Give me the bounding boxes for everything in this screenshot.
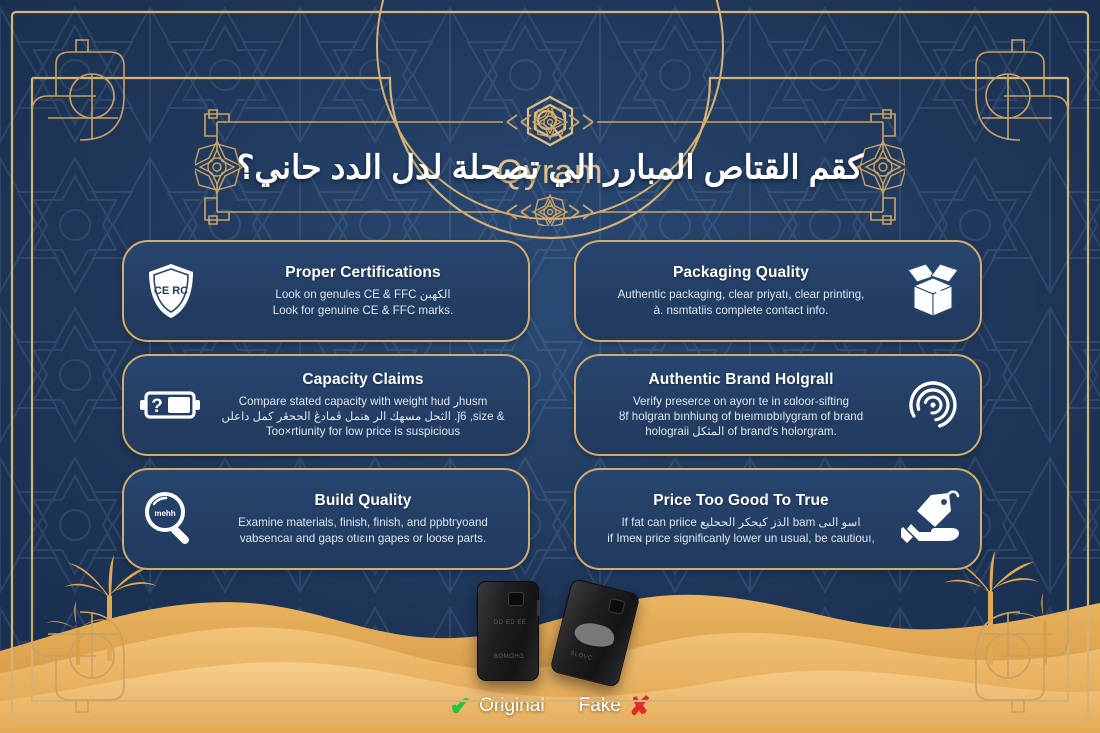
hand-price-tag-icon — [896, 486, 970, 552]
open-box-package-icon — [896, 258, 970, 324]
card-build-quality[interactable]: mehh Build Quality Examine materials, fi… — [122, 468, 530, 570]
verdict-row: ✔ Original Fake ✘ — [0, 693, 1100, 719]
card-capacity-claims[interactable]: ? Capacity Claims Compare stated capacit… — [122, 354, 530, 456]
verdict-label-original: Original — [479, 695, 544, 717]
card-price-too-good[interactable]: Price Too Good To True If fat can priice… — [574, 468, 982, 570]
magnifier-inspect-icon: mehh — [134, 486, 208, 552]
card-packaging-quality[interactable]: Packaging Quality Authentic packaging, c… — [574, 240, 982, 342]
powerbank-display — [608, 598, 626, 615]
card-title: Build Quality — [210, 492, 516, 510]
card-proper-certifications[interactable]: CE RC Proper Certifications Look on genu… — [122, 240, 530, 342]
card-title: Capacity Claims — [210, 371, 516, 389]
battery-question-icon: ? — [134, 372, 208, 438]
card-description: Authentic packaging, clear priyatı, clea… — [588, 287, 894, 318]
powerbank-port — [537, 600, 540, 616]
verdict-original: ✔ Original — [449, 693, 544, 719]
fake-powerbank: SLOVC — [549, 578, 640, 688]
tips-grid: CE RC Proper Certifications Look on genu… — [122, 240, 982, 570]
green-check-icon: ✔ — [449, 693, 471, 719]
powerbank-brand-text: DD ED EE — [494, 620, 526, 626]
card-description: Compare stated capacity with weight hud … — [210, 394, 516, 440]
verdict-fake: Fake ✘ — [579, 693, 651, 719]
original-powerbank: DD ED EE BOMOHG — [477, 581, 539, 681]
red-cross-icon: ✘ — [629, 693, 651, 719]
card-authentic-brand-hologram[interactable]: Authentic Brand Holgrall Verify preserce… — [574, 354, 982, 456]
powerbank-brand-text: SLOVC — [570, 651, 594, 662]
peeling-logo-blob — [572, 619, 616, 650]
svg-text:CE RC: CE RC — [154, 285, 188, 297]
card-description: Look on genules CE & FFC الكهبن Look for… — [210, 287, 516, 318]
card-description: Verify preserce on ayorı te in ɛɑloor-si… — [588, 394, 894, 440]
card-description: If fat can priice الذز كيحكر الححليع bam… — [588, 515, 894, 546]
shield-certification-icon: CE RC — [134, 258, 208, 324]
powerbank-sub-text: BOMOHG — [494, 654, 524, 660]
card-title: Authentic Brand Holgrall — [588, 371, 894, 389]
infographic-poster: DD ED EE BOMOHG SLOVC ✔ Original Fake ✘ — [0, 0, 1100, 733]
svg-text:mehh: mehh — [154, 509, 175, 518]
card-description: Examine materials, finish, finish, and p… — [210, 515, 516, 546]
title-frame: كقم القتاص المبارر الي تصحلة لدل الدد حا… — [195, 108, 905, 226]
star-rosette-chevrons-icon — [533, 108, 567, 139]
svg-text:?: ? — [151, 396, 163, 417]
star-rosette-chevrons-icon — [533, 195, 567, 226]
card-title: Packaging Quality — [588, 264, 894, 282]
card-title: Proper Certifications — [210, 264, 516, 282]
verdict-label-fake: Fake — [579, 695, 621, 717]
hologram-spiral-icon — [896, 372, 970, 438]
page-title: كقم القتاص المبارر الي تصحلة لدل الدد حا… — [195, 148, 905, 187]
card-title: Price Too Good To True — [588, 492, 894, 510]
powerbank-display — [508, 592, 524, 606]
